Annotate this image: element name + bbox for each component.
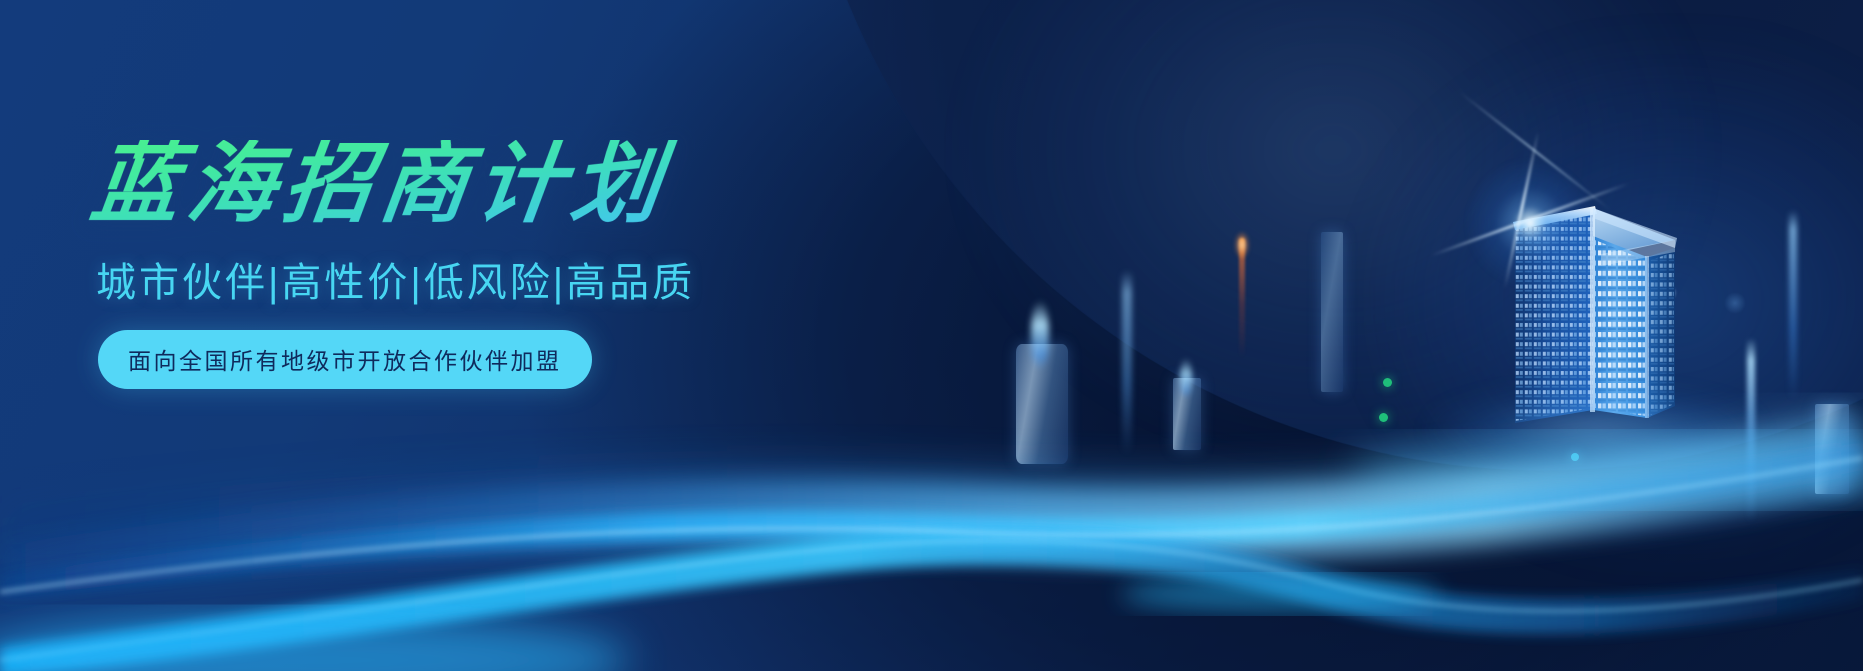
- banner-title: 蓝海招商计划: [87, 140, 858, 228]
- promo-banner: 蓝海招商计划 城市伙伴|高性价|低风险|高品质 面向全国所有地级市开放合作伙伴加…: [0, 0, 1863, 671]
- banner-content: 蓝海招商计划 城市伙伴|高性价|低风险|高品质 面向全国所有地级市开放合作伙伴加…: [92, 140, 852, 389]
- banner-subtitle: 城市伙伴|高性价|低风险|高品质: [96, 250, 852, 308]
- partner-recruitment-badge[interactable]: 面向全国所有地级市开放合作伙伴加盟: [98, 330, 592, 389]
- right-atmosphere-glow: [1363, 40, 1863, 560]
